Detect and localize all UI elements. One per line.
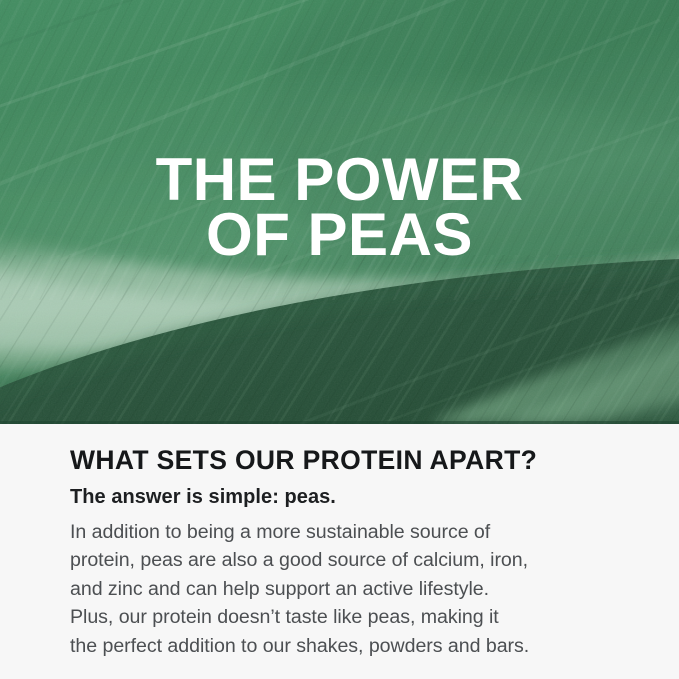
panel-body-line-3: and zinc and can help support an active …: [70, 575, 626, 603]
info-panel: WHAT SETS OUR PROTEIN APART? The answer …: [0, 424, 679, 679]
hero-headline-line-1: THE POWER: [0, 152, 679, 207]
panel-body-line-4: Plus, our protein doesn’t taste like pea…: [70, 603, 626, 631]
panel-body-text: In addition to being a more sustainable …: [70, 518, 626, 660]
panel-subtitle: The answer is simple: peas.: [70, 485, 626, 509]
hero-headline: THE POWER OF PEAS: [0, 152, 679, 262]
panel-body-line-5: the perfect addition to our shakes, powd…: [70, 632, 626, 660]
panel-body-line-2: protein, peas are also a good source of …: [70, 546, 626, 574]
hero-leaf-banner: THE POWER OF PEAS: [0, 0, 679, 424]
panel-body-line-1: In addition to being a more sustainable …: [70, 518, 626, 546]
product-info-graphic: THE POWER OF PEAS WHAT SETS OUR PROTEIN …: [0, 0, 679, 679]
panel-title: WHAT SETS OUR PROTEIN APART?: [70, 445, 626, 475]
info-panel-content: WHAT SETS OUR PROTEIN APART? The answer …: [70, 445, 626, 660]
hero-headline-line-2: OF PEAS: [0, 207, 679, 262]
